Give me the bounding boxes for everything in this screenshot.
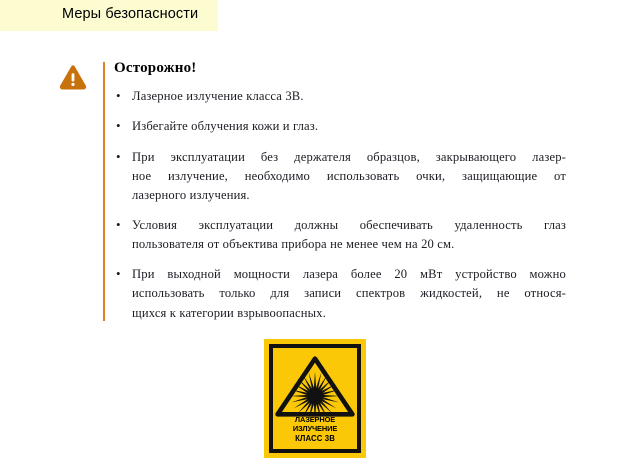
callout-accent-rule [103, 62, 105, 321]
list-item-line: использовать только для записи спектров … [132, 284, 566, 303]
list-item-line: Условия эксплуатации должны обеспечивать… [132, 216, 566, 235]
list-item-line: щихся к категории взрывоопасных. [132, 304, 566, 323]
list-item-line: Избегайте облучения кожи и глаз. [132, 117, 566, 136]
laser-caption-line2: КЛАСС 3В [273, 434, 357, 443]
list-item-line: Лазерное излучение класса 3В. [132, 87, 566, 106]
page-title: Меры безопасности [62, 6, 198, 22]
list-item-line: пользователя от объектива прибора не мен… [132, 235, 566, 254]
list-item: Избегайте облучения кожи и глаз. [114, 117, 566, 136]
list-item-line: При эксплуатации без держателя образцов,… [132, 148, 566, 167]
section-title-band: Меры безопасности [0, 0, 218, 31]
safety-callout: Осторожно! Лазерное излучение класса 3В.… [114, 60, 566, 323]
laser-sign-frame: ЛАЗЕРНОЕ ИЗЛУЧЕНИЕ КЛАСС 3В [269, 344, 361, 453]
list-item: Лазерное излучение класса 3В. [114, 87, 566, 106]
warning-triangle-icon [59, 64, 87, 90]
list-item: При эксплуатации без держателя образцов,… [114, 148, 566, 205]
list-item-line: лазерного излучения. [132, 186, 566, 205]
list-item-line: ное излучение, необходимо использовать о… [132, 167, 566, 186]
laser-caption-line1: ЛАЗЕРНОЕ ИЗЛУЧЕНИЕ [273, 416, 357, 433]
list-item: Условия эксплуатации должны обеспечивать… [114, 216, 566, 254]
laser-warning-sign: ЛАЗЕРНОЕ ИЗЛУЧЕНИЕ КЛАСС 3В [264, 339, 366, 458]
list-item: При выходной мощности лазера более 20 мВ… [114, 265, 566, 322]
callout-heading: Осторожно! [114, 60, 566, 77]
laser-sign-caption: ЛАЗЕРНОЕ ИЗЛУЧЕНИЕ КЛАСС 3В [273, 416, 357, 443]
hazard-list: Лазерное излучение класса 3В. Избегайте … [114, 87, 566, 322]
list-item-line: При выходной мощности лазера более 20 мВ… [132, 265, 566, 284]
laser-burst-icon [273, 350, 357, 422]
